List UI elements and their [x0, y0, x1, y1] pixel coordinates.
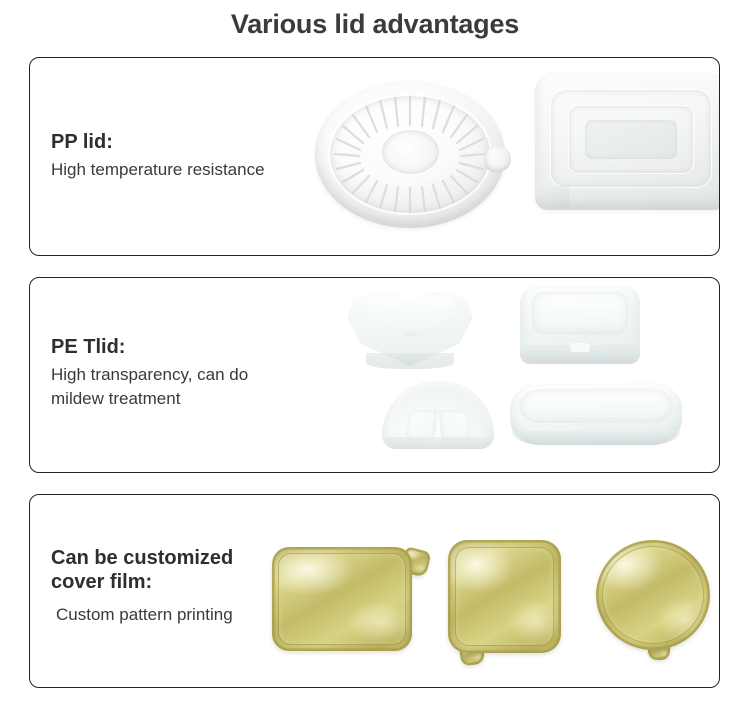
foil-body — [448, 540, 561, 653]
round-ribbed-pp-lid-image — [315, 81, 505, 228]
lid-recess-outer — [550, 89, 711, 188]
lid-lip — [384, 437, 492, 449]
lid-recess-inner — [585, 120, 677, 159]
lid-center-hub — [382, 130, 439, 174]
lid-ribs — [315, 81, 505, 228]
lid-rim — [328, 94, 491, 215]
foil-body — [596, 540, 710, 650]
card-pp-lid: PP lid: High temperature resistance — [29, 57, 720, 256]
pp-description: High temperature resistance — [51, 158, 265, 183]
pe-description: High transparency, can do mildew treatme… — [51, 363, 248, 412]
foil-body — [272, 547, 412, 651]
square-gold-foil-lid-image — [448, 540, 561, 653]
pp-heading: PP lid: — [51, 131, 265, 155]
lid-corner-facet — [535, 186, 569, 208]
rectangular-pp-lid-image — [535, 72, 720, 210]
infographic-page: Various lid advantages PP lid: High temp… — [0, 0, 750, 712]
foil-inner-ring — [602, 546, 704, 644]
lid-facet-left — [405, 410, 437, 441]
lid-notch — [570, 343, 589, 352]
foil-pull-tab — [400, 546, 432, 578]
lid-base-skirt — [524, 345, 637, 363]
pp-text-block: PP lid: High temperature resistance — [51, 131, 265, 182]
lid-top-panel — [359, 291, 460, 337]
dome-pet-lid-image — [382, 381, 494, 449]
lid-disc — [315, 81, 505, 228]
card-pe-tlid: PE Tlid: High transparency, can do milde… — [29, 277, 720, 473]
page-title: Various lid advantages — [0, 9, 750, 40]
lid-lip — [512, 431, 681, 445]
lid-recess-middle — [568, 105, 695, 174]
foil-inner-ring — [455, 547, 554, 646]
square-pet-lid-image — [520, 286, 640, 364]
rectangular-gold-foil-lid-image — [272, 547, 412, 651]
lid-body — [382, 381, 494, 449]
lid-base-skirt — [366, 353, 454, 369]
gold-text-block: Can be customized cover film: Custom pat… — [51, 547, 233, 628]
heart-shaped-pet-lid-image — [345, 286, 475, 366]
lid-body — [535, 72, 720, 210]
lid-pull-tab — [485, 146, 511, 172]
round-gold-foil-lid-image — [596, 540, 710, 650]
foil-pull-tab — [459, 641, 486, 666]
gold-description: Custom pattern printing — [51, 603, 233, 628]
foil-pull-tab — [648, 640, 670, 660]
foil-inner-ring — [278, 553, 406, 645]
gold-heading: Can be customized cover film: — [51, 547, 233, 594]
pe-text-block: PE Tlid: High transparency, can do milde… — [51, 336, 248, 412]
card-customized-cover-film: Can be customized cover film: Custom pat… — [29, 494, 720, 688]
lid-top-panel — [532, 292, 628, 334]
lid-top-panel — [519, 389, 674, 424]
lid-facet-right — [439, 410, 471, 441]
lid-body — [510, 383, 682, 445]
oval-shallow-pet-lid-image — [510, 383, 682, 445]
lid-body — [345, 286, 475, 366]
pe-heading: PE Tlid: — [51, 336, 248, 360]
lid-body — [520, 286, 640, 364]
